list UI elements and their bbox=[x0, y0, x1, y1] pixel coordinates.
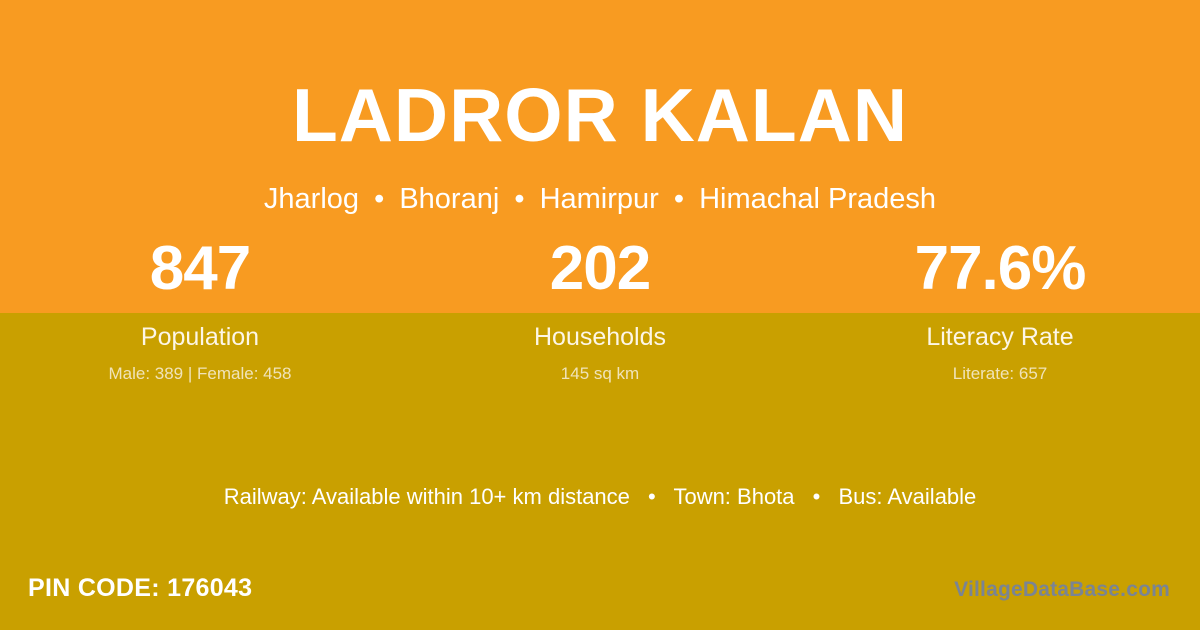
amenity-railway: Railway: Available within 10+ km distanc… bbox=[224, 484, 630, 509]
location-part-state: Himachal Pradesh bbox=[699, 183, 936, 215]
location-part-block: Jharlog bbox=[264, 183, 359, 215]
location-breadcrumb: Jharlog • Bhoranj • Hamirpur • Himachal … bbox=[0, 185, 1200, 214]
stat-value: 202 bbox=[400, 238, 800, 300]
stat-population: 847 Population Male: 389 | Female: 458 bbox=[0, 238, 400, 382]
card-header: LADROR KALAN Jharlog • Bhoranj • Hamirpu… bbox=[0, 0, 1200, 214]
village-info-card: LADROR KALAN Jharlog • Bhoranj • Hamirpu… bbox=[0, 0, 1200, 630]
village-title: LADROR KALAN bbox=[0, 78, 1200, 153]
location-part-tehsil: Bhoranj bbox=[399, 183, 499, 215]
amenities-line: Railway: Available within 10+ km distanc… bbox=[0, 486, 1200, 508]
location-separator-icon: • bbox=[367, 183, 391, 215]
stat-value: 847 bbox=[0, 238, 400, 300]
stat-sublabel: Literate: 657 bbox=[800, 365, 1200, 382]
stat-label: Population bbox=[0, 325, 400, 350]
stat-sublabel: Male: 389 | Female: 458 bbox=[0, 365, 400, 382]
amenity-separator-icon: • bbox=[801, 484, 833, 509]
stats-row: 847 Population Male: 389 | Female: 458 2… bbox=[0, 238, 1200, 382]
stat-label: Households bbox=[400, 325, 800, 350]
amenity-separator-icon: • bbox=[636, 484, 668, 509]
location-separator-icon: • bbox=[667, 183, 691, 215]
amenity-bus: Bus: Available bbox=[838, 484, 976, 509]
card-footer: PIN CODE: 176043 VillageDataBase.com bbox=[0, 572, 1200, 616]
stat-label: Literacy Rate bbox=[800, 325, 1200, 350]
stat-literacy-rate: 77.6% Literacy Rate Literate: 657 bbox=[800, 238, 1200, 382]
amenity-town: Town: Bhota bbox=[673, 484, 794, 509]
pin-code: PIN CODE: 176043 bbox=[28, 576, 252, 601]
stat-value: 77.6% bbox=[800, 238, 1200, 300]
location-part-district: Hamirpur bbox=[540, 183, 659, 215]
site-watermark: VillageDataBase.com bbox=[954, 579, 1170, 600]
stat-households: 202 Households 145 sq km bbox=[400, 238, 800, 382]
location-separator-icon: • bbox=[507, 183, 531, 215]
stat-sublabel: 145 sq km bbox=[400, 365, 800, 382]
